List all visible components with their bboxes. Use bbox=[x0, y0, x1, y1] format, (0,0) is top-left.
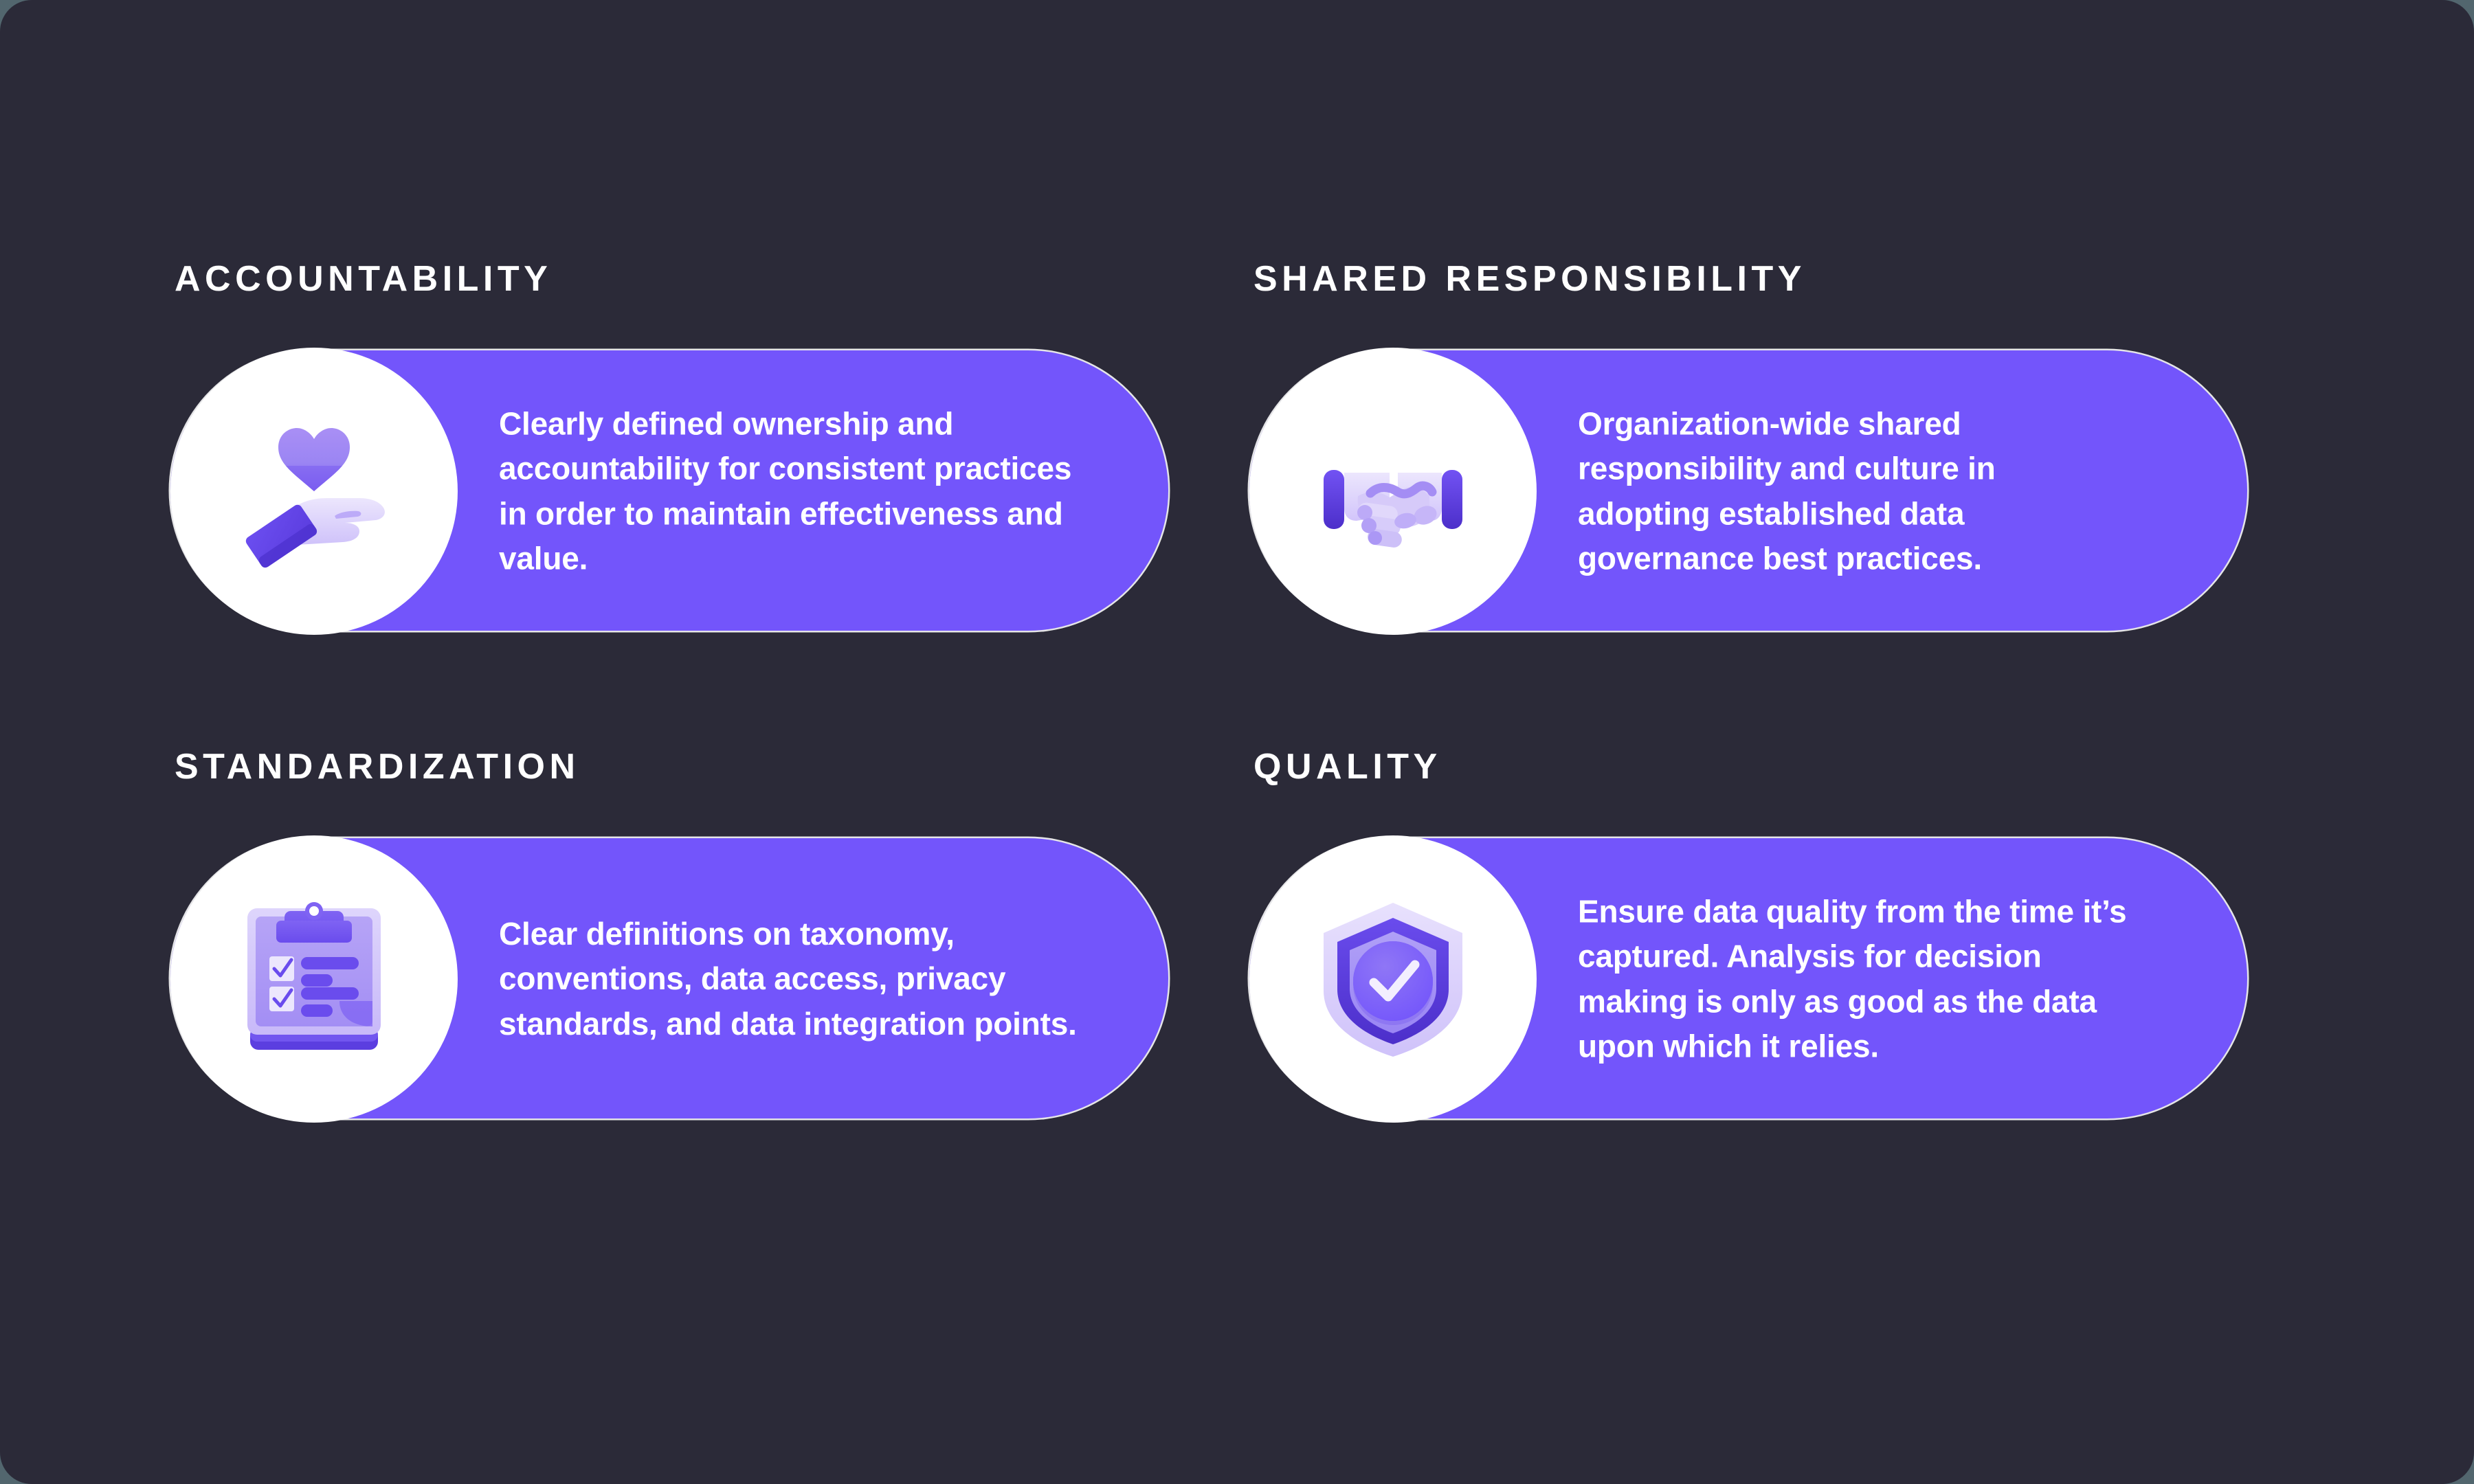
card-pill[interactable]: Clearly defined ownership and accountabi… bbox=[170, 350, 1168, 632]
card-icon-badge bbox=[1249, 835, 1537, 1123]
card-title: SHARED RESPONSIBILITY bbox=[1253, 261, 2328, 297]
principles-grid: ACCOUNTABILITY Clearly defined ownership… bbox=[170, 261, 2315, 1237]
infographic-page: ACCOUNTABILITY Clearly defined ownership… bbox=[0, 0, 2474, 1484]
card-description: Clear definitions on taxonomy, conventio… bbox=[499, 912, 1104, 1046]
shield-check-icon bbox=[1307, 893, 1479, 1065]
card-pill[interactable]: Clear definitions on taxonomy, conventio… bbox=[170, 838, 1168, 1120]
card-accountability[interactable]: ACCOUNTABILITY Clearly defined ownership… bbox=[170, 261, 1249, 749]
card-description: Ensure data quality from the time it’s c… bbox=[1578, 889, 2148, 1068]
card-standardization[interactable]: STANDARDIZATION Clear definitions on tax… bbox=[170, 749, 1249, 1237]
card-shared-responsibility[interactable]: SHARED RESPONSIBILITY Organization-wide … bbox=[1249, 261, 2328, 749]
card-title: STANDARDIZATION bbox=[175, 749, 1249, 785]
card-quality[interactable]: QUALITY Ensure data quality from the tim… bbox=[1249, 749, 2328, 1237]
card-title: QUALITY bbox=[1253, 749, 2328, 785]
card-description: Organization-wide shared responsibility … bbox=[1578, 401, 2100, 581]
card-pill[interactable]: Organization-wide shared responsibility … bbox=[1249, 350, 2247, 632]
card-icon-badge bbox=[1249, 348, 1537, 635]
card-title: ACCOUNTABILITY bbox=[175, 261, 1249, 297]
card-description: Clearly defined ownership and accountabi… bbox=[499, 401, 1104, 581]
heart-in-hand-icon bbox=[225, 402, 403, 581]
card-icon-badge bbox=[170, 835, 458, 1123]
card-pill[interactable]: Ensure data quality from the time it’s c… bbox=[1249, 838, 2247, 1120]
card-icon-badge bbox=[170, 348, 458, 635]
handshake-icon bbox=[1307, 405, 1479, 577]
clipboard-checklist-icon bbox=[238, 893, 390, 1065]
